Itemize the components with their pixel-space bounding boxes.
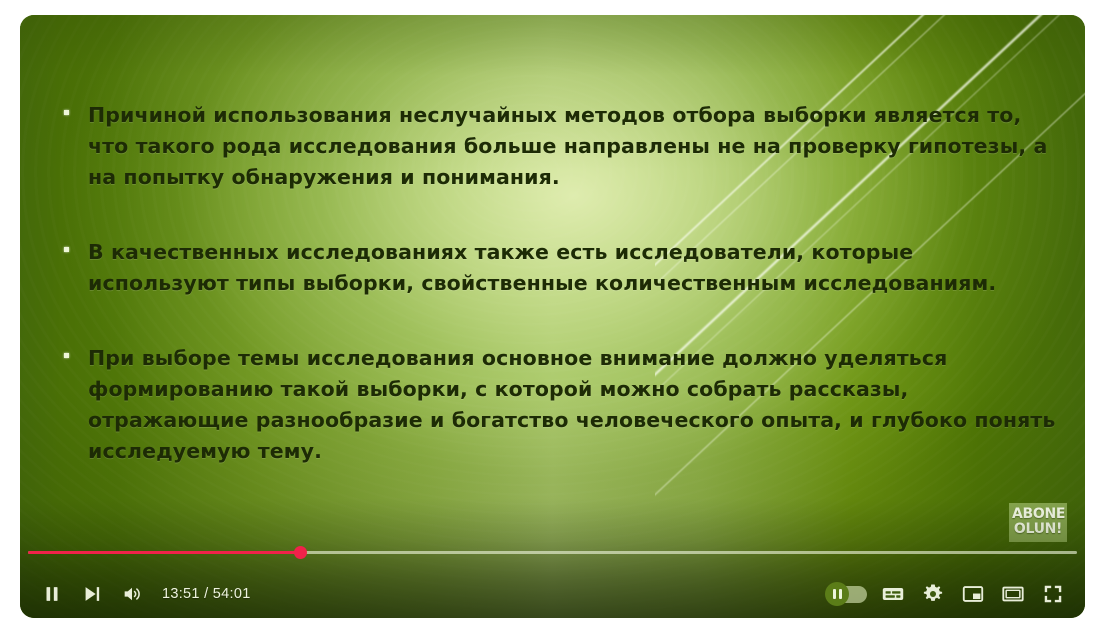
autoplay-toggle-icon — [827, 586, 867, 603]
progress-handle[interactable] — [294, 546, 307, 559]
theater-mode-button[interactable] — [993, 574, 1033, 614]
fullscreen-button[interactable] — [1033, 574, 1073, 614]
miniplayer-button[interactable] — [953, 574, 993, 614]
bullet-paragraph-text: В качественных исследованиях также есть … — [88, 240, 996, 295]
bullet-marker-icon — [64, 110, 69, 115]
watermark-line-1: ABONE — [1012, 507, 1064, 522]
slide-text-content: Причиной использования неслучайных метод… — [40, 100, 1060, 467]
pause-button[interactable] — [32, 574, 72, 614]
volume-button[interactable] — [112, 574, 152, 614]
player-control-bar: 13:51 / 54:01 — [20, 570, 1085, 618]
bullet-paragraph: При выборе темы исследования основное вн… — [40, 343, 1060, 467]
bullet-paragraph-text: При выборе темы исследования основное вн… — [88, 346, 1055, 463]
subscribe-watermark: ABONE OLUN! — [1009, 503, 1067, 542]
video-player[interactable]: Причиной использования неслучайных метод… — [20, 15, 1085, 618]
bullet-paragraph-text: Причиной использования неслучайных метод… — [88, 103, 1047, 189]
progress-track[interactable] — [28, 551, 1077, 554]
bullet-paragraph: В качественных исследованиях также есть … — [40, 237, 1060, 299]
settings-button[interactable] — [913, 574, 953, 614]
autoplay-pause-glyph-icon — [833, 589, 842, 599]
miniplayer-icon — [961, 582, 985, 606]
volume-icon — [121, 583, 143, 605]
autoplay-toggle-button[interactable] — [821, 574, 873, 614]
watermark-line-2: OLUN! — [1012, 522, 1064, 537]
theater-mode-icon — [1001, 582, 1025, 606]
pause-icon — [41, 583, 63, 605]
next-video-icon — [81, 583, 103, 605]
subtitles-button[interactable] — [873, 574, 913, 614]
next-video-button[interactable] — [72, 574, 112, 614]
bullet-paragraph: Причиной использования неслучайных метод… — [40, 100, 1060, 193]
bullet-marker-icon — [64, 353, 69, 358]
fullscreen-icon — [1042, 583, 1064, 605]
gear-icon — [922, 583, 944, 605]
left-controls: 13:51 / 54:01 — [32, 574, 257, 614]
time-display: 13:51 / 54:01 — [162, 586, 251, 602]
screenshot-root: Причиной использования неслучайных метод… — [0, 0, 1105, 624]
subtitles-icon — [880, 581, 906, 607]
progress-bar[interactable] — [28, 544, 1077, 560]
autoplay-toggle-knob — [825, 582, 849, 606]
right-controls — [821, 574, 1073, 614]
progress-played — [28, 551, 301, 554]
bullet-marker-icon — [64, 247, 69, 252]
